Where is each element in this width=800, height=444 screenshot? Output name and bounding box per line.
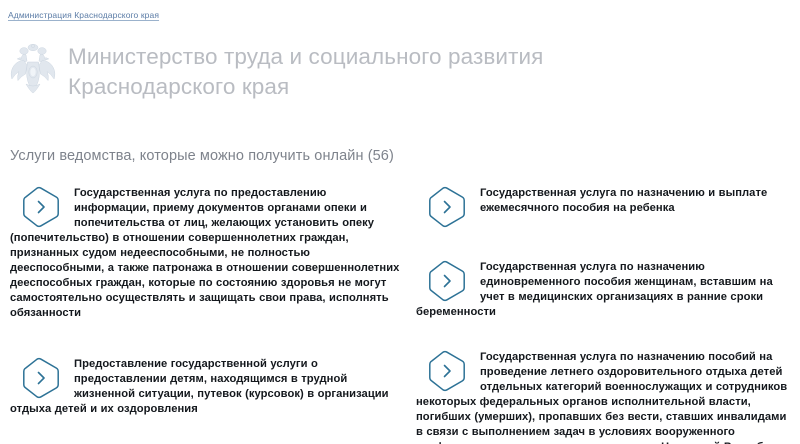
- service-label: Государственная услуга по назначению и в…: [416, 186, 794, 216]
- russian-double-headed-eagle-emblem-icon: [10, 44, 56, 102]
- chevron-right-hex-icon[interactable]: [426, 350, 468, 392]
- chevron-right-hex-icon[interactable]: [20, 357, 62, 399]
- page-title: Министерство труда и социального развити…: [68, 42, 543, 101]
- chevron-right-hex-icon[interactable]: [426, 186, 468, 228]
- services-column-left: Государственная услуга по предоставлению…: [10, 186, 402, 444]
- service-label: Государственная услуга по предоставлению…: [10, 186, 402, 321]
- service-card[interactable]: Государственная услуга по назначению пос…: [416, 350, 794, 444]
- online-services-section-title: Услуги ведомства, которые можно получить…: [10, 148, 800, 164]
- services-column-right: Государственная услуга по назначению и в…: [402, 186, 794, 444]
- service-card[interactable]: Государственная услуга по назначению и в…: [416, 186, 794, 230]
- service-label: Государственная услуга по назначению еди…: [416, 260, 794, 320]
- administration-link[interactable]: Администрация Краснодарского края: [8, 10, 159, 20]
- chevron-right-hex-icon[interactable]: [20, 186, 62, 228]
- services-grid: Государственная услуга по предоставлению…: [0, 186, 800, 444]
- ministry-header: Министерство труда и социального развити…: [0, 16, 800, 108]
- service-card[interactable]: Предоставление государственной услуги о …: [10, 357, 402, 417]
- chevron-right-hex-icon[interactable]: [426, 260, 468, 302]
- service-label: Государственная услуга по назначению пос…: [416, 350, 794, 444]
- service-card[interactable]: Государственная услуга по предоставлению…: [10, 186, 402, 321]
- topbar: Администрация Краснодарского края: [0, 0, 800, 16]
- service-label: Предоставление государственной услуги о …: [10, 357, 402, 417]
- service-card[interactable]: Государственная услуга по назначению еди…: [416, 260, 794, 320]
